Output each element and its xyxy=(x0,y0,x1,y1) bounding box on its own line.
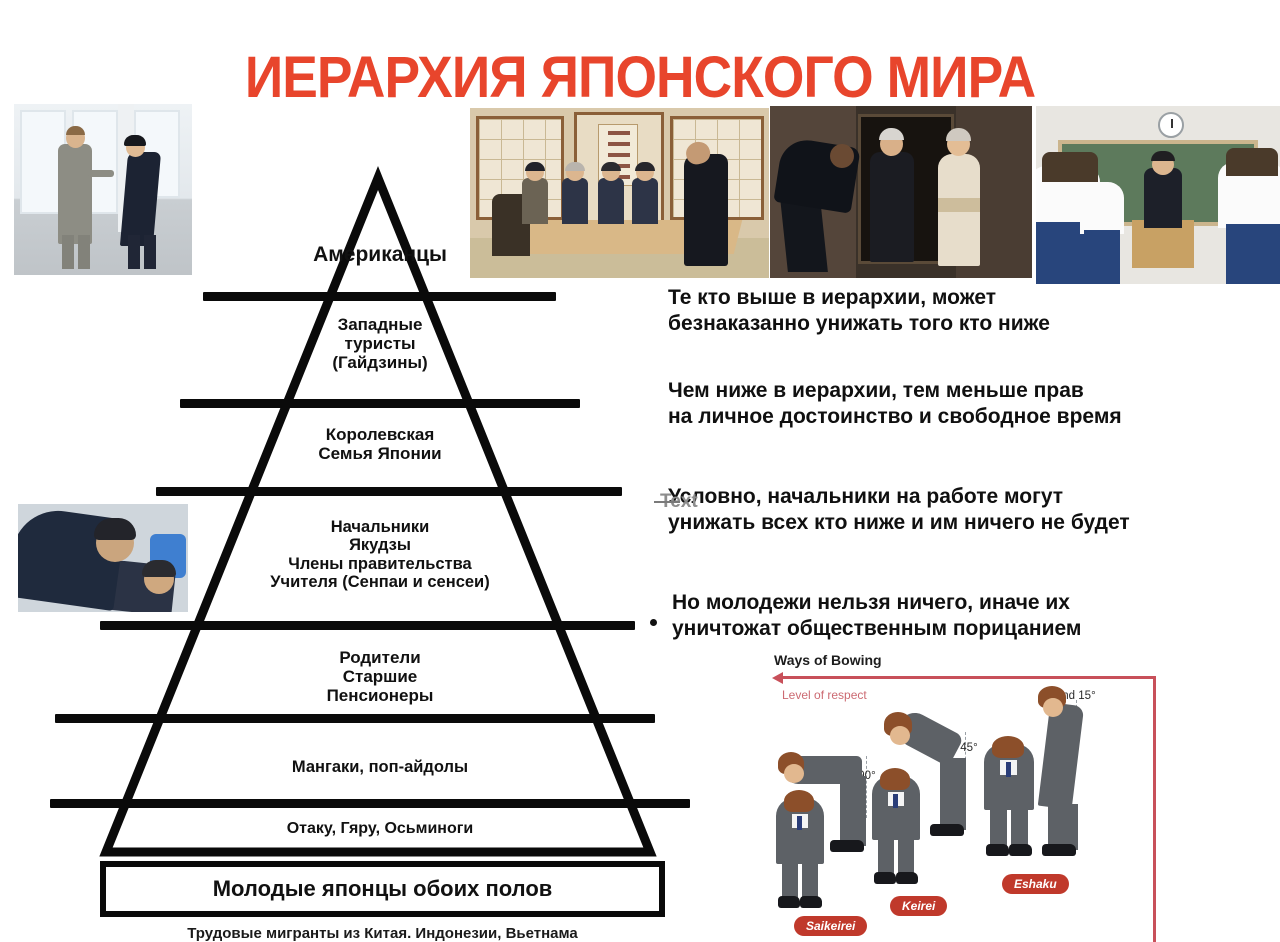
tier-otaku: Отаку, Гяру, Осьминоги xyxy=(170,820,590,838)
ghost-placeholder-text: Text xyxy=(660,491,698,513)
arrow-left-icon xyxy=(772,672,783,684)
note-higher-humiliates: Те кто выше в иерархии, может безнаказан… xyxy=(668,285,1268,336)
pill-eshaku: Eshaku xyxy=(1002,874,1069,894)
note-youth-forbidden: Но молодежи нельзя ничего, иначе их унич… xyxy=(672,590,1272,641)
bowing-diagram-title: Ways of Bowing xyxy=(774,652,882,668)
pyramid-divider-6 xyxy=(50,799,690,808)
respect-axis-line xyxy=(776,676,1156,679)
pyramid-divider-2 xyxy=(180,399,580,408)
tier-bosses: Начальники Якудзы Члены правительства Уч… xyxy=(170,518,590,592)
tier-mangaka: Мангаки, поп-айдолы xyxy=(170,758,590,776)
pill-keirei: Keirei xyxy=(890,896,947,916)
note-bosses-humiliate: Условно, начальники на работе могут униж… xyxy=(668,484,1268,535)
respect-axis-label: Level of respect xyxy=(782,688,867,702)
bottom-tier-box: Молодые японцы обоих полов xyxy=(100,861,665,917)
ways-of-bowing-diagram: Ways of Bowing Level of respect Around 9… xyxy=(762,648,1280,942)
pyramid-divider-3 xyxy=(156,487,622,496)
pyramid-divider-1 xyxy=(203,292,556,301)
bottom-tier-label: Молодые японцы обоих полов xyxy=(213,876,553,902)
pyramid-divider-4 xyxy=(100,621,635,630)
pyramid-outline xyxy=(106,178,650,852)
bottom-caption: Трудовые мигранты из Китая. Индонезии, В… xyxy=(100,925,665,942)
tier-royal: Королевская Семья Японии xyxy=(170,425,590,463)
pyramid-divider-5 xyxy=(55,714,655,723)
tier-americans: Американцы xyxy=(170,243,590,267)
tier-parents: Родители Старшие Пенсионеры xyxy=(170,648,590,705)
bullet-dot-icon xyxy=(650,619,657,626)
photo-classroom-bow xyxy=(1036,106,1280,284)
pill-saikeirei: Saikeirei xyxy=(794,916,867,936)
note-fewer-rights: Чем ниже в иерархии, тем меньше прав на … xyxy=(668,378,1268,429)
photo-emperor-bow xyxy=(770,106,1032,278)
infographic-canvas: ИЕРАРХИЯ ЯПОНСКОГО МИРА xyxy=(0,0,1280,942)
tier-tourists: Западные туристы (Гайдзины) xyxy=(170,315,590,372)
